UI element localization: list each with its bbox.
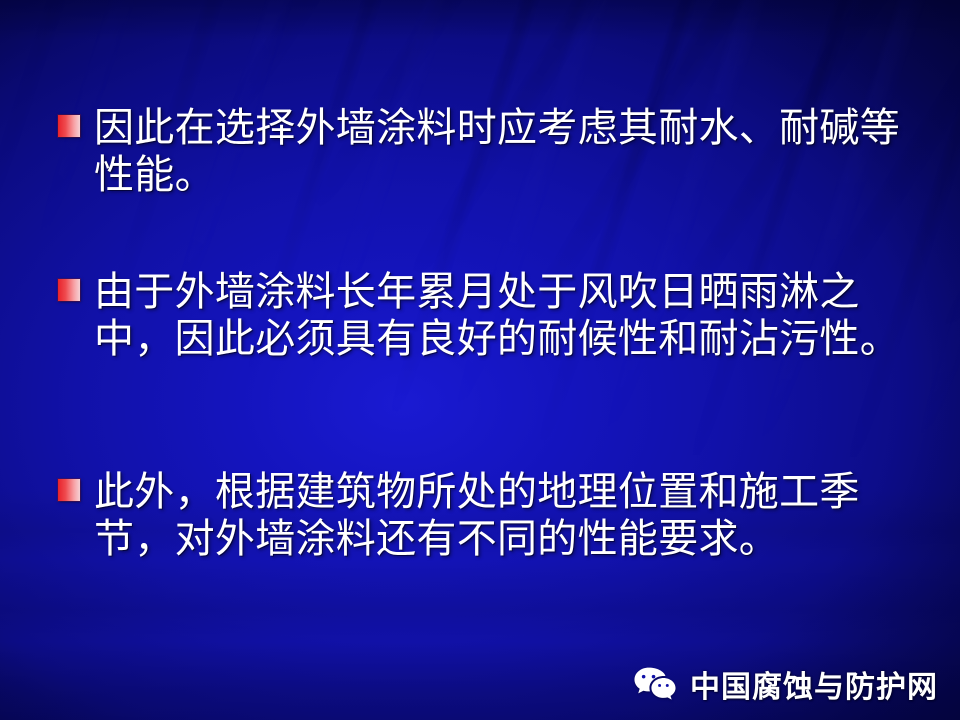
bullet-square-icon bbox=[58, 115, 80, 137]
bullet-square-icon bbox=[58, 479, 80, 501]
bullet-item-1: 因此在选择外墙涂料时应考虑其耐水、耐碱等性能。 bbox=[58, 104, 914, 198]
watermark-label: 中国腐蚀与防护网 bbox=[690, 662, 938, 706]
bullet-square-icon bbox=[58, 279, 80, 301]
bullet-text-3: 此外，根据建筑物所处的地理位置和施工季节，对外墙涂料还有不同的性能要求。 bbox=[94, 468, 914, 562]
bullet-text-1: 因此在选择外墙涂料时应考虑其耐水、耐碱等性能。 bbox=[94, 104, 914, 198]
bullet-text-2: 由于外墙涂料长年累月处于风吹日晒雨淋之中，因此必须具有良好的耐候性和耐沾污性。 bbox=[94, 268, 914, 362]
watermark: 中国腐蚀与防护网 bbox=[633, 662, 938, 706]
presentation-slide: 因此在选择外墙涂料时应考虑其耐水、耐碱等性能。 由于外墙涂料长年累月处于风吹日晒… bbox=[0, 0, 960, 720]
bullet-item-2: 由于外墙涂料长年累月处于风吹日晒雨淋之中，因此必须具有良好的耐候性和耐沾污性。 bbox=[58, 268, 914, 362]
slide-content: 因此在选择外墙涂料时应考虑其耐水、耐碱等性能。 由于外墙涂料长年累月处于风吹日晒… bbox=[0, 0, 960, 720]
bullet-item-3: 此外，根据建筑物所处的地理位置和施工季节，对外墙涂料还有不同的性能要求。 bbox=[58, 468, 914, 562]
wechat-icon bbox=[633, 665, 677, 703]
